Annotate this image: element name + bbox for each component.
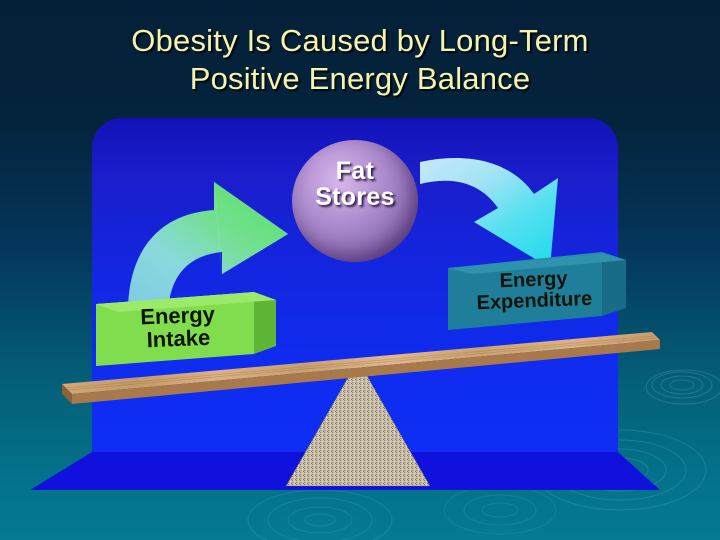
slide-canvas: Obesity Is Caused by Long-Term Positive … (0, 0, 720, 540)
fat-stores-label: Fat Stores (292, 158, 418, 210)
fat-stores-sphere: Fat Stores (292, 140, 418, 262)
energy-intake-box: Energy Intake (86, 288, 282, 374)
energy-expenditure-box: Energy Expenditure (442, 250, 628, 338)
slide-title: Obesity Is Caused by Long-Term Positive … (0, 22, 720, 98)
